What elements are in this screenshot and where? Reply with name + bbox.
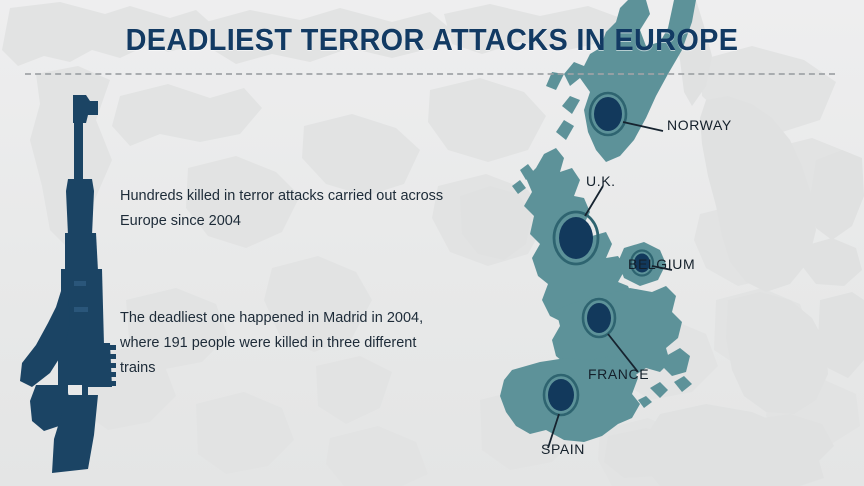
marker-uk <box>554 212 598 264</box>
map-label-spain: SPAIN <box>541 441 585 457</box>
assault-rifle-icon <box>18 95 128 473</box>
marker-france <box>583 299 615 337</box>
map-label-norway: NORWAY <box>667 117 732 133</box>
paragraph-two: The deadliest one happened in Madrid in … <box>120 306 450 381</box>
map-label-belgium: BELGIUM <box>628 256 695 272</box>
map-label-france: FRANCE <box>588 366 649 382</box>
infographic-canvas: NORWAY U.K. BELGIUM FRANCE SPAIN <box>0 0 864 486</box>
balearic-island-b <box>674 376 692 392</box>
uk-island-b <box>512 180 526 194</box>
marker-norway <box>590 93 626 135</box>
header-divider <box>25 73 835 75</box>
balearic-island-a <box>650 382 668 398</box>
corsica <box>664 348 690 376</box>
paragraph-one: Hundreds killed in terror attacks carrie… <box>120 184 450 234</box>
marker-spain <box>544 375 578 415</box>
balearic-island-c <box>638 396 652 408</box>
norway-island-c <box>556 120 574 140</box>
page-title: DEADLIEST TERROR ATTACKS IN EUROPE <box>30 22 834 58</box>
leader-uk <box>585 186 603 216</box>
map-label-uk: U.K. <box>586 173 616 189</box>
norway-island-b <box>562 96 580 114</box>
